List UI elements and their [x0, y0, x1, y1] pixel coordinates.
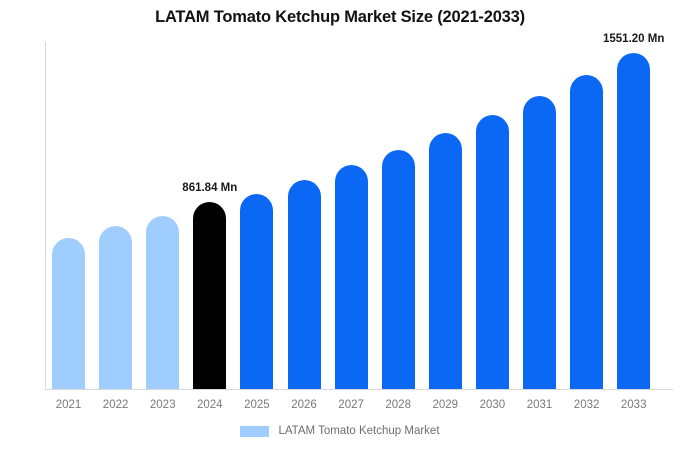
bar-2033[interactable] — [617, 53, 650, 389]
bar-2028[interactable] — [382, 150, 415, 389]
bar-2023[interactable] — [146, 216, 179, 389]
bar-2021[interactable] — [52, 238, 85, 389]
plot-area: 02004006008001,0001,2001,4001,600 — [45, 42, 673, 389]
bar-2026[interactable] — [288, 180, 321, 389]
chart-title: LATAM Tomato Ketchup Market Size (2021-2… — [0, 8, 680, 27]
legend-swatch-latam-tomato-ketchup-market — [240, 426, 269, 437]
data-label-2024: 861.84 Mn — [182, 182, 237, 194]
chart-legend: LATAM Tomato Ketchup Market — [0, 425, 680, 437]
bar-2024[interactable] — [193, 202, 226, 389]
bar-2030[interactable] — [476, 115, 509, 389]
bar-2022[interactable] — [99, 226, 132, 389]
legend-label-latam-tomato-ketchup-market: LATAM Tomato Ketchup Market — [278, 425, 439, 437]
bar-2025[interactable] — [240, 194, 273, 389]
bar-2031[interactable] — [523, 96, 556, 389]
x-axis-tick-label-2033: 2033 — [604, 399, 664, 411]
data-label-2033: 1551.20 Mn — [603, 33, 664, 45]
bar-chart: LATAM Tomato Ketchup Market Size (2021-2… — [0, 0, 680, 450]
bar-2029[interactable] — [429, 133, 462, 389]
x-axis-line — [45, 389, 673, 390]
bar-2027[interactable] — [335, 165, 368, 389]
bar-2032[interactable] — [570, 75, 603, 389]
